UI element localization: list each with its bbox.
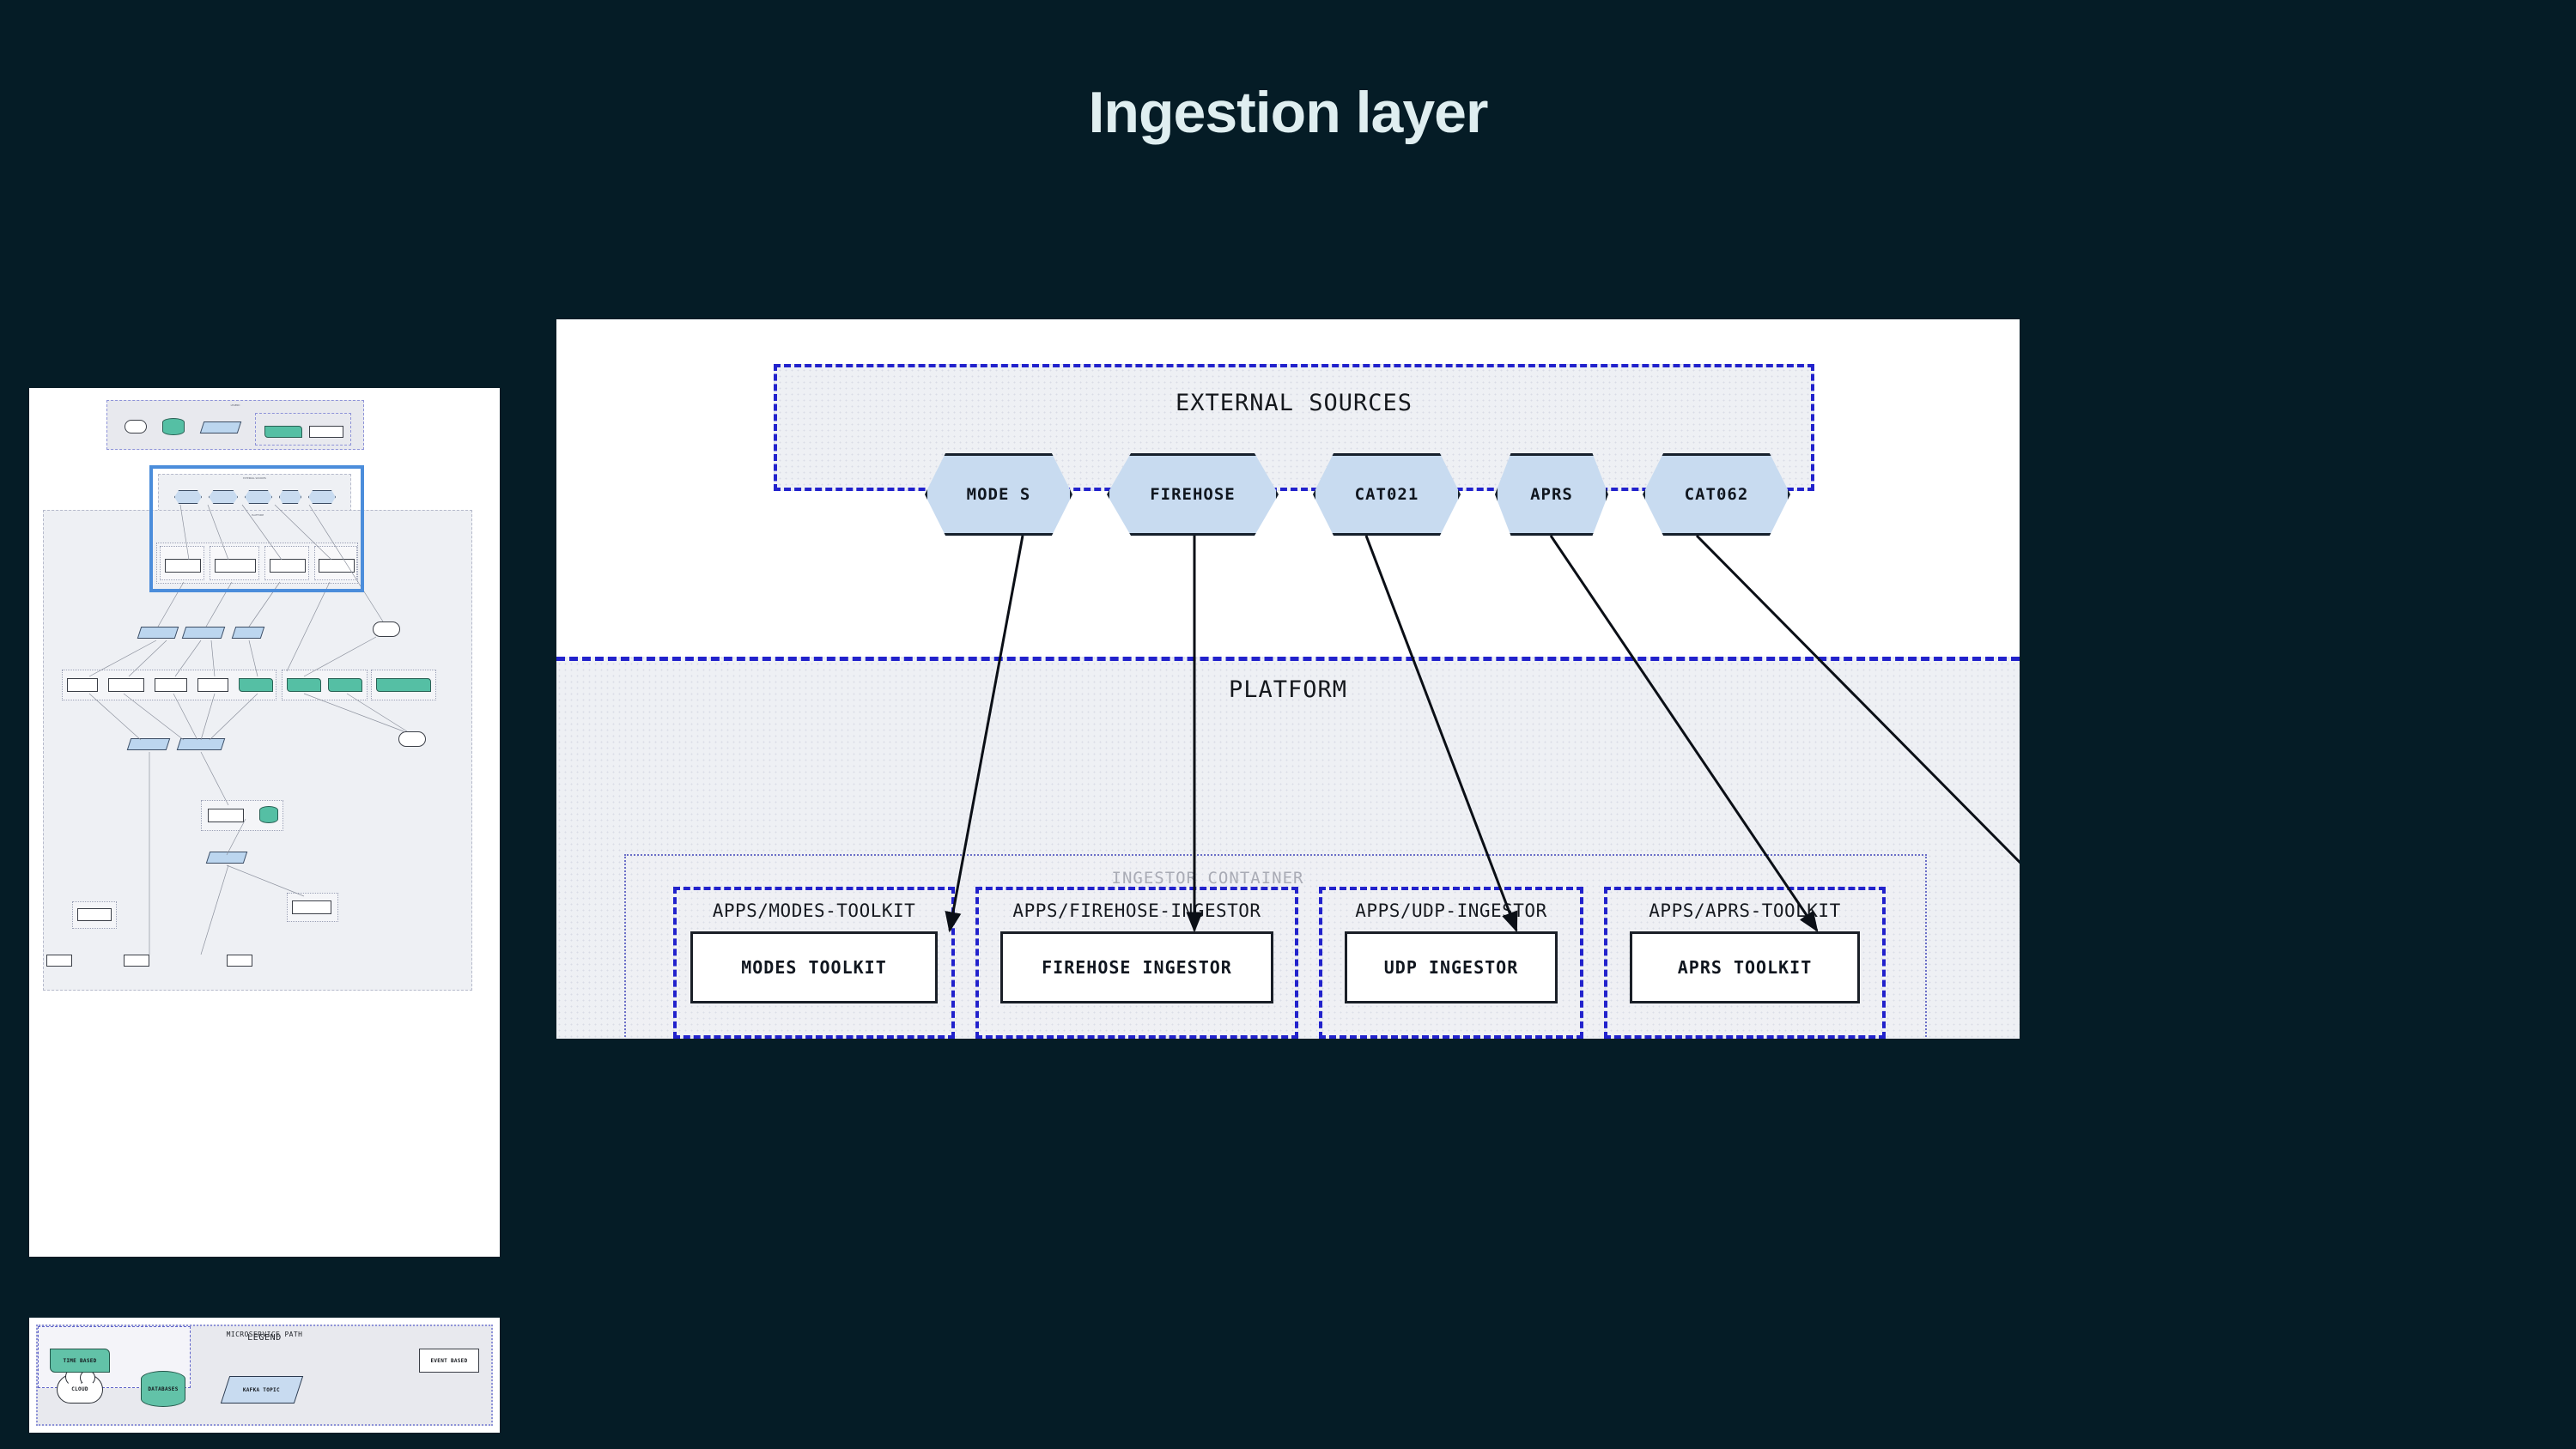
thumbnail-canvas: LEGEND EXTERNAL SOURCES PLAT [29, 388, 500, 1257]
legend-cloud-label: CLOUD [71, 1386, 88, 1392]
app-box-label: FIREHOSE INGESTOR [1042, 957, 1232, 978]
diagram-panel: EXTERNAL SOURCES PLATFORM INGESTOR CONTA… [556, 319, 2020, 1039]
app-group-modes-toolkit[interactable]: APPS/MODES-TOOLKITMODES TOOLKIT [673, 887, 955, 1039]
app-group-label: APPS/MODES-TOOLKIT [677, 900, 951, 921]
app-box-firehose-ingestor[interactable]: FIREHOSE INGESTOR [1000, 931, 1273, 1003]
legend-inner: LEGEND CLOUD DATABASES KAFKA TOPIC MICRO… [36, 1325, 493, 1426]
legend-database-icon: DATABASES [141, 1371, 185, 1407]
external-sources-label: EXTERNAL SOURCES [774, 390, 1814, 416]
external-source-hex-cat021[interactable]: CAT021 [1313, 453, 1461, 536]
external-source-hex-aprs[interactable]: APRS [1495, 453, 1608, 536]
app-group-label: APPS/UDP-INGESTOR [1322, 900, 1580, 921]
app-box-udp-ingestor[interactable]: UDP INGESTOR [1345, 931, 1558, 1003]
external-source-hex-firehose[interactable]: FIREHOSE [1107, 453, 1279, 536]
external-source-hex-label: CAT062 [1685, 485, 1749, 504]
external-source-hex-cat062[interactable]: CAT062 [1643, 453, 1790, 536]
app-group-aprs-toolkit[interactable]: APPS/APRS-TOOLKITAPRS TOOLKIT [1604, 887, 1886, 1039]
external-source-hex-label: CAT021 [1355, 485, 1419, 504]
slide-root: Ingestion layer EXTERNAL SOURCES PLATFOR… [0, 0, 2576, 1449]
architecture-thumbnail[interactable]: LEGEND EXTERNAL SOURCES PLAT [29, 388, 500, 1257]
legend-time-based-icon: TIME BASED [50, 1349, 110, 1373]
external-source-hex-label: FIREHOSE [1150, 485, 1236, 504]
legend-kafka-topic-label: KAFKA TOPIC [243, 1387, 280, 1393]
app-box-aprs-toolkit[interactable]: APRS TOOLKIT [1630, 931, 1860, 1003]
page-title: Ingestion layer [0, 79, 2576, 146]
legend-time-based-label: TIME BASED [63, 1358, 96, 1364]
legend-database-label: DATABASES [148, 1386, 178, 1392]
app-group-udp-ingestor[interactable]: APPS/UDP-INGESTORUDP INGESTOR [1319, 887, 1583, 1039]
legend-event-based-label: EVENT BASED [430, 1358, 467, 1364]
app-group-label: APPS/APRS-TOOLKIT [1607, 900, 1882, 921]
app-group-label: APPS/FIREHOSE-INGESTOR [979, 900, 1295, 921]
app-box-label: APRS TOOLKIT [1678, 957, 1813, 978]
legend-event-based-icon: EVENT BASED [419, 1349, 479, 1373]
external-source-hex-mode-s[interactable]: MODE S [925, 453, 1072, 536]
legend-microservice-path-title: MICROSERVICE PATH [38, 1331, 491, 1338]
thumbnail-highlight-region [149, 465, 364, 592]
app-box-modes-toolkit[interactable]: MODES TOOLKIT [690, 931, 938, 1003]
external-source-hex-label: APRS [1530, 485, 1573, 504]
app-box-label: UDP INGESTOR [1384, 957, 1519, 978]
app-box-label: MODES TOOLKIT [741, 957, 887, 978]
ingestor-container-label: INGESTOR CONTAINER [556, 869, 1859, 888]
platform-label: PLATFORM [556, 676, 2020, 703]
legend-cloud-icon: CLOUD [57, 1374, 103, 1404]
legend-kafka-topic-icon: KAFKA TOPIC [221, 1376, 303, 1404]
legend-card[interactable]: LEGEND CLOUD DATABASES KAFKA TOPIC MICRO… [29, 1318, 500, 1433]
app-group-firehose-ingestor[interactable]: APPS/FIREHOSE-INGESTORFIREHOSE INGESTOR [975, 887, 1298, 1039]
external-source-hex-label: MODE S [967, 485, 1031, 504]
